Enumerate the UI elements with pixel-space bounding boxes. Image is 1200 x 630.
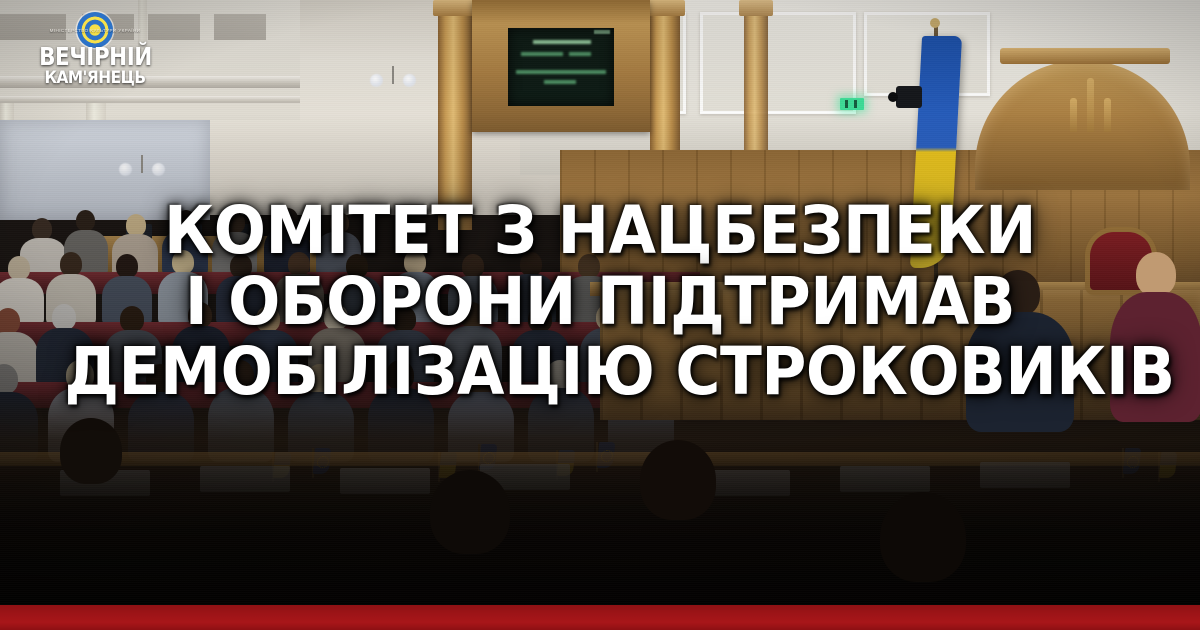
wall-cornice (0, 96, 300, 103)
logo-line-2: КАМ'ЯНЕЦЬ (37, 71, 154, 86)
person-head (880, 492, 966, 582)
logo-line-1: ВЕЧІРНІЙ (39, 46, 151, 69)
screen-text-line (533, 40, 590, 44)
bottom-accent-bar (0, 605, 1200, 630)
wooden-column (744, 0, 768, 150)
column-capital (645, 0, 685, 16)
sconce-stem (392, 66, 394, 84)
wall-panel (700, 12, 856, 114)
screen-text-line (521, 52, 563, 56)
rostrum-arch-cap (1000, 48, 1170, 64)
trident-prong (1070, 98, 1077, 132)
sconce-stem (141, 155, 143, 173)
logo-wordmark: ВЕЧІРНІЙ КАМ'ЯНЕЦЬ (30, 46, 160, 87)
ukraine-trident-emblem-icon (1070, 78, 1112, 132)
person-head (430, 470, 510, 554)
screen-text-line (516, 70, 605, 74)
column-capital (433, 0, 477, 16)
headline-line-3: ДЕМОБІЛІЗАЦІЮ СТРОКОВИКІВ (64, 337, 1135, 408)
column-capital (739, 0, 773, 16)
desk-console (200, 466, 290, 492)
parliament-voting-screen (508, 28, 614, 106)
broadcast-camera (896, 86, 922, 108)
wall-sconce-light (370, 66, 416, 92)
flag-finial (930, 18, 940, 28)
news-thumbnail-card: МІНІСТЕРСТВО КУЛЬТУРИ УКРАЇНИ ВЕЧІРНІЙ К… (0, 0, 1200, 630)
desk-console (840, 466, 930, 492)
trident-prong (1087, 78, 1094, 132)
headline-line-2: І ОБОРОНИ ПІДТРИМАВ (64, 267, 1135, 338)
headline-block: КОМІТЕТ З НАЦБЕЗПЕКИ І ОБОРОНИ ПІДТРИМАВ… (0, 196, 1200, 408)
screen-clock (594, 30, 610, 34)
logo-ministry-text: МІНІСТЕРСТВО КУЛЬТУРИ УКРАЇНИ (30, 28, 160, 34)
screen-text-line (569, 52, 590, 56)
screen-text-line (544, 80, 576, 84)
wall-sconce-light (119, 155, 165, 181)
trident-prong (1104, 98, 1111, 132)
exit-sign-icon (840, 98, 864, 110)
person-head (60, 418, 122, 484)
headline-line-1: КОМІТЕТ З НАЦБЕЗПЕКИ (64, 196, 1135, 267)
desk-console (340, 468, 430, 494)
person-head (640, 440, 716, 520)
desk-console (980, 462, 1070, 488)
wall-relief-panel (214, 14, 266, 40)
publisher-logo[interactable]: МІНІСТЕРСТВО КУЛЬТУРИ УКРАЇНИ ВЕЧІРНІЙ К… (30, 8, 160, 87)
